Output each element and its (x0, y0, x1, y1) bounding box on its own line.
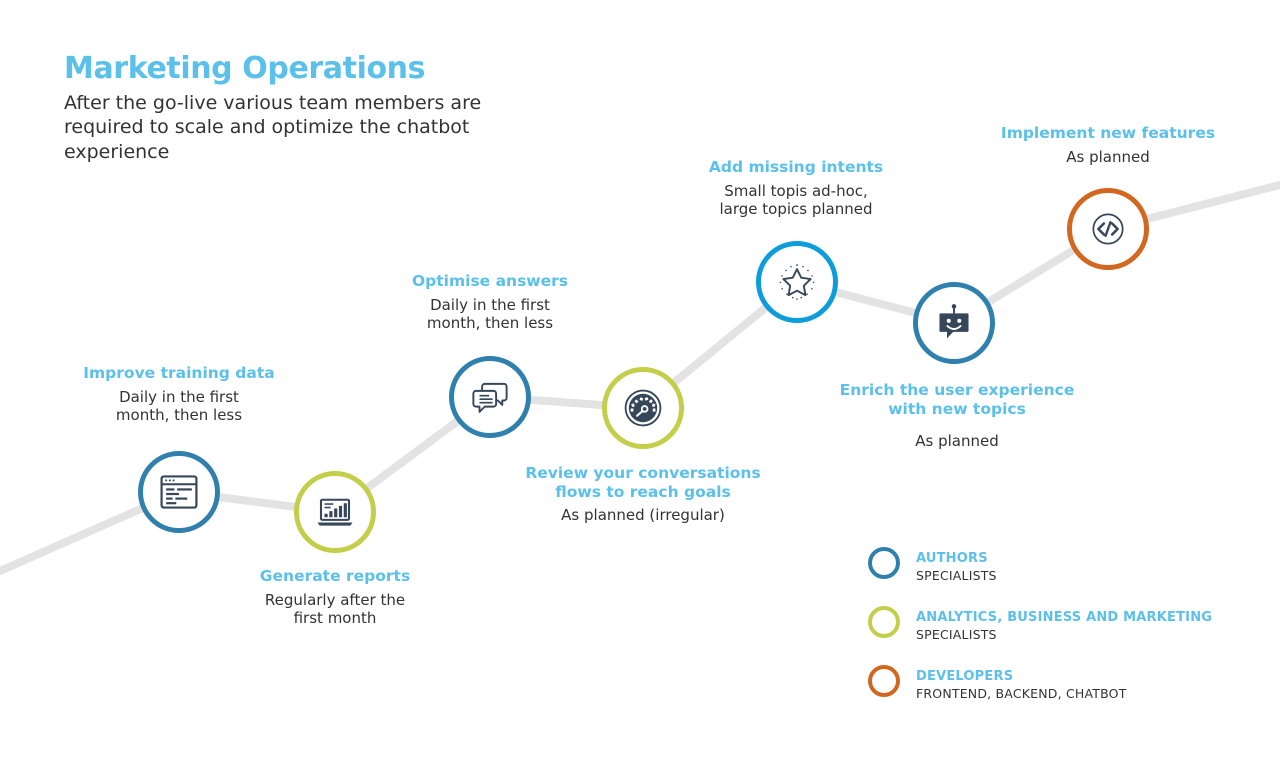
legend-label: ANALYTICS, BUSINESS AND MARKETING (916, 610, 1212, 625)
browser-window-icon (157, 470, 201, 514)
legend-text: DEVELOPERS FRONTEND, BACKEND, CHATBOT (916, 664, 1127, 701)
node-generate-reports[interactable] (294, 471, 376, 553)
node-enrich-user-experience[interactable] (913, 282, 995, 364)
caption-generate-reports: Generate reports Regularly after the fir… (205, 567, 465, 628)
node-add-missing-intents[interactable] (756, 241, 838, 323)
code-brackets-icon (1086, 207, 1130, 251)
legend-text: AUTHORS SPECIALISTS (916, 546, 997, 583)
caption-subtitle: Regularly after the first month (205, 591, 465, 629)
caption-title: Optimise answers (360, 272, 620, 291)
node-optimise-answers[interactable] (449, 356, 531, 438)
node-review-conversation-flows[interactable] (602, 367, 684, 449)
page-title: Marketing Operations (64, 52, 494, 85)
caption-title: Enrich the user experience with new topi… (827, 381, 1087, 418)
caption-implement-new-features: Implement new features As planned (978, 124, 1238, 166)
caption-title: Generate reports (205, 567, 465, 586)
chatbot-robot-icon (933, 302, 975, 344)
legend-sublabel: SPECIALISTS (916, 568, 997, 584)
legend-label: AUTHORS (916, 551, 988, 566)
caption-title: Review your conversations flows to reach… (513, 464, 773, 501)
legend-item-developers: DEVELOPERS FRONTEND, BACKEND, CHATBOT (868, 664, 1212, 701)
node-improve-training-data[interactable] (138, 451, 220, 533)
caption-subtitle: As planned (978, 148, 1238, 167)
legend-sublabel: FRONTEND, BACKEND, CHATBOT (916, 686, 1127, 702)
legend: AUTHORS SPECIALISTS ANALYTICS, BUSINESS … (868, 546, 1212, 724)
caption-enrich-user-experience: Enrich the user experience with new topi… (827, 381, 1087, 451)
caption-subtitle: Daily in the first month, then less (49, 388, 309, 426)
caption-subtitle: As planned (827, 432, 1087, 451)
laptop-bar-chart-icon (314, 491, 356, 533)
legend-text: ANALYTICS, BUSINESS AND MARKETING SPECIA… (916, 605, 1212, 642)
gauge-icon (621, 386, 665, 430)
legend-ring-olive-icon (868, 606, 900, 638)
legend-ring-blue-icon (868, 547, 900, 579)
legend-item-authors: AUTHORS SPECIALISTS (868, 546, 1212, 583)
caption-subtitle: Small topis ad-hoc, large topics planned (666, 182, 926, 220)
caption-subtitle: Daily in the first month, then less (360, 296, 620, 334)
caption-title: Add missing intents (666, 158, 926, 177)
sparkle-star-icon (775, 260, 819, 304)
legend-ring-orange-icon (868, 665, 900, 697)
caption-subtitle: As planned (irregular) (513, 506, 773, 525)
legend-label: DEVELOPERS (916, 669, 1013, 684)
caption-title: Implement new features (978, 124, 1238, 143)
caption-optimise-answers: Optimise answers Daily in the first mont… (360, 272, 620, 333)
node-implement-new-features[interactable] (1067, 188, 1149, 270)
speech-bubbles-icon (469, 376, 511, 418)
legend-item-analytics-business-marketing: ANALYTICS, BUSINESS AND MARKETING SPECIA… (868, 605, 1212, 642)
caption-review-conversation-flows: Review your conversations flows to reach… (513, 464, 773, 525)
caption-improve-training-data: Improve training data Daily in the first… (49, 364, 309, 425)
legend-sublabel: SPECIALISTS (916, 627, 1212, 643)
caption-title: Improve training data (49, 364, 309, 383)
page-subtitle: After the go-live various team members a… (64, 91, 494, 164)
header-block: Marketing Operations After the go-live v… (64, 52, 494, 164)
caption-add-missing-intents: Add missing intents Small topis ad-hoc, … (666, 158, 926, 219)
